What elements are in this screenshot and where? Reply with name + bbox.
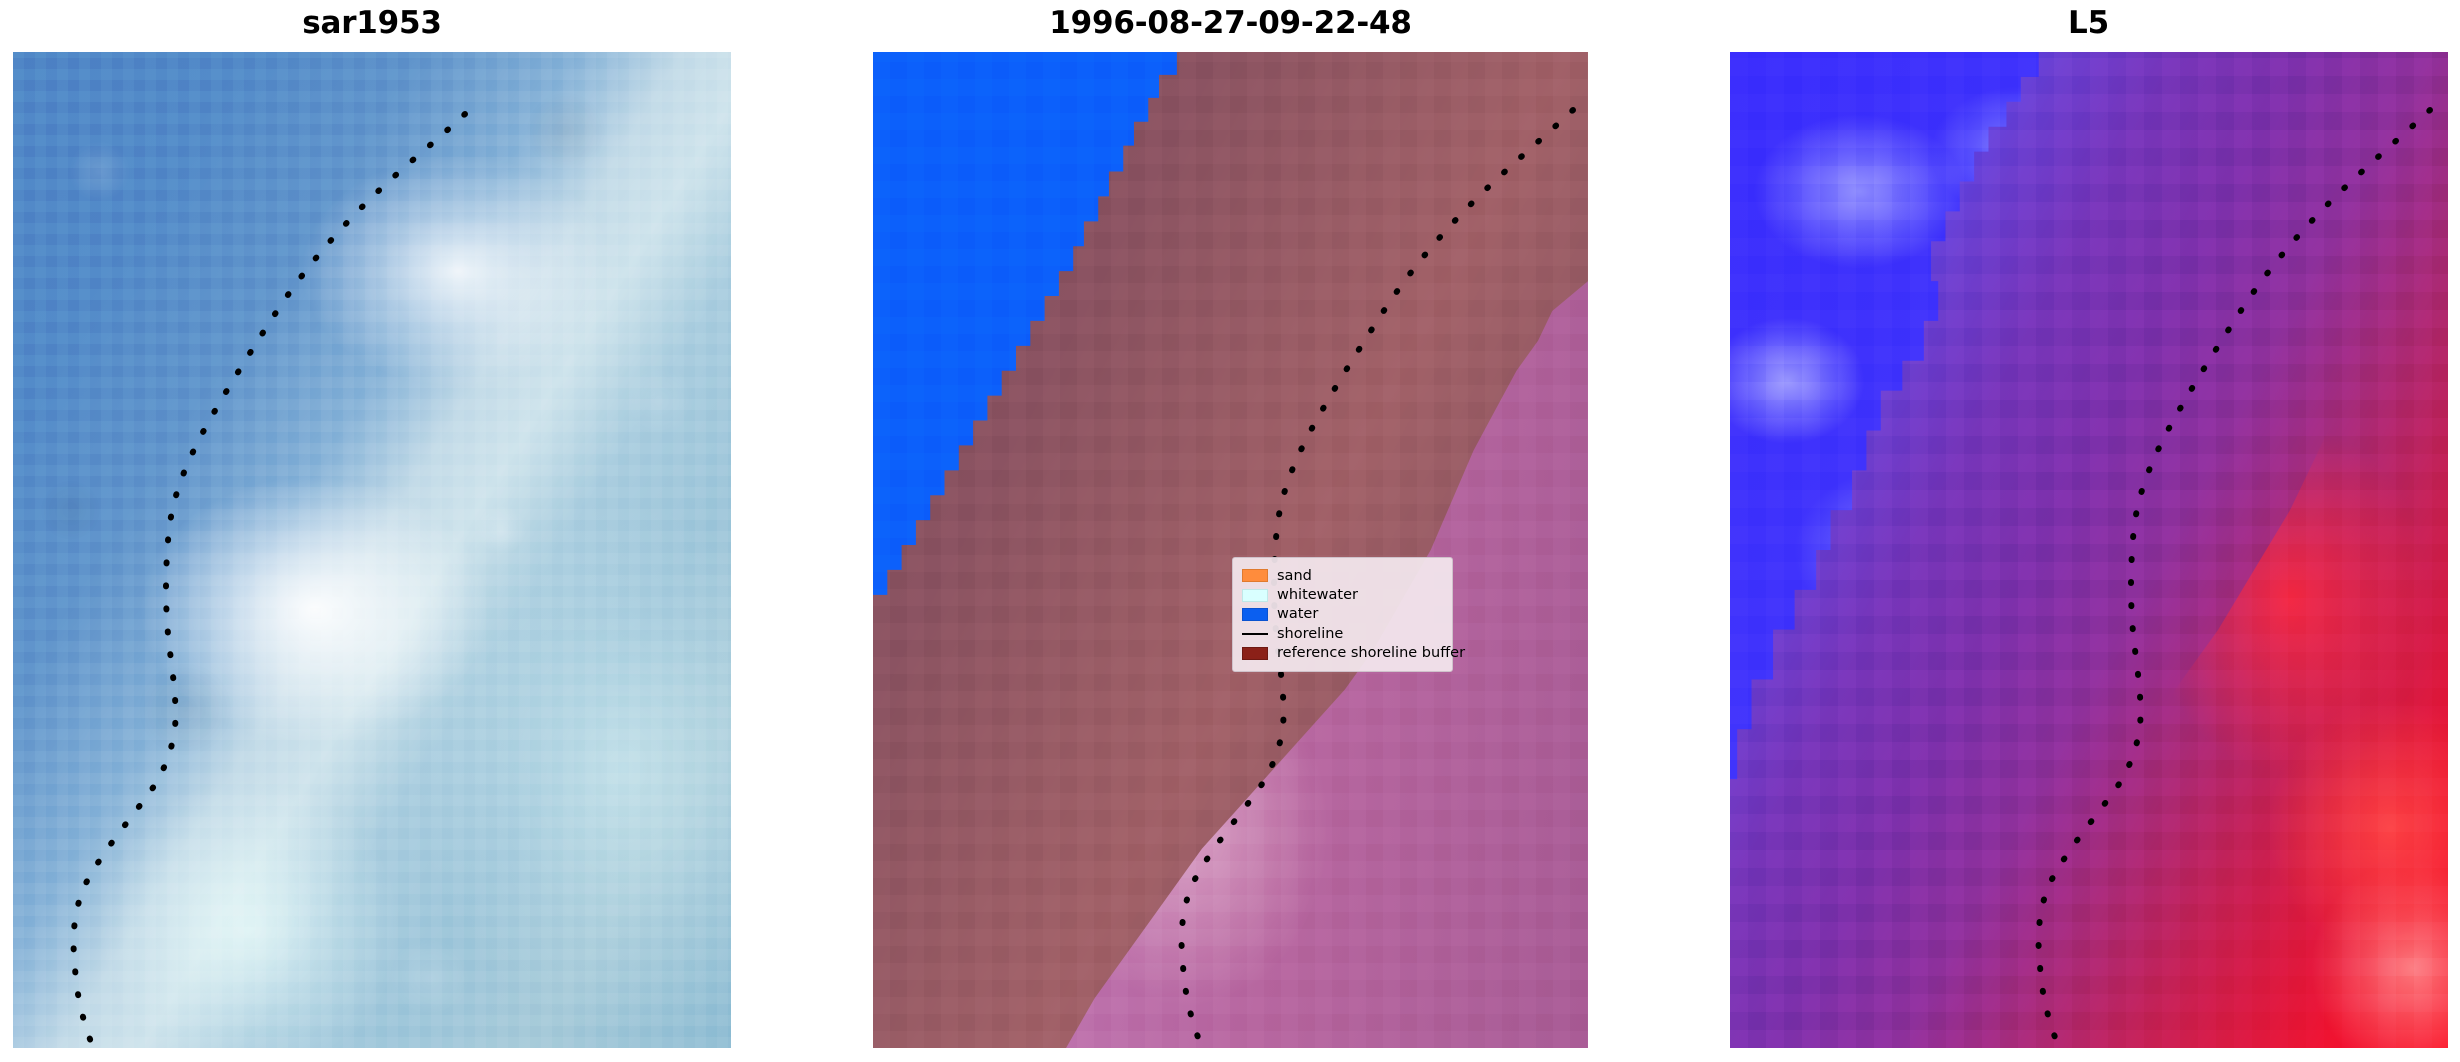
panel-sar1953: sar1953 (0, 0, 744, 1062)
figure-canvas: sar1953 1996-08-27-09-22-48 L5 (0, 0, 2460, 1062)
legend-item-shoreline[interactable]: shoreline (1242, 624, 1443, 643)
legend-swatch-sand (1242, 569, 1268, 582)
image-axes-l5[interactable] (1730, 52, 2448, 1048)
l5-pixel-grid (1730, 52, 2448, 1048)
panel-title-sar1953: sar1953 (0, 6, 744, 40)
legend-swatch-reference-shoreline-buffer (1242, 647, 1268, 660)
legend-label-water: water (1277, 606, 1318, 622)
legend-line-shoreline (1242, 633, 1268, 635)
legend-label-shoreline: shoreline (1277, 626, 1343, 642)
legend-swatch-whitewater (1242, 589, 1268, 602)
legend-label-whitewater: whitewater (1277, 587, 1358, 603)
legend-label-sand: sand (1277, 568, 1312, 584)
legend-box: sand whitewater water shoreline referenc… (1232, 557, 1453, 672)
sar-pixel-speckle (13, 52, 731, 1048)
panel-title-l5: L5 (1717, 6, 2460, 40)
legend-item-water[interactable]: water (1242, 605, 1443, 624)
legend-item-sand[interactable]: sand (1242, 566, 1443, 585)
panel-classification: 1996-08-27-09-22-48 (860, 0, 1601, 1062)
image-axes-sar1953[interactable] (13, 52, 731, 1048)
panel-title-classification: 1996-08-27-09-22-48 (860, 6, 1601, 40)
legend-item-reference-shoreline-buffer[interactable]: reference shoreline buffer (1242, 644, 1443, 663)
legend-item-whitewater[interactable]: whitewater (1242, 585, 1443, 604)
image-axes-classification[interactable] (873, 52, 1588, 1048)
classification-pixel-grid (873, 52, 1588, 1048)
legend-swatch-water (1242, 608, 1268, 621)
legend-label-reference-shoreline-buffer: reference shoreline buffer (1277, 645, 1465, 661)
panel-l5: L5 (1717, 0, 2460, 1062)
